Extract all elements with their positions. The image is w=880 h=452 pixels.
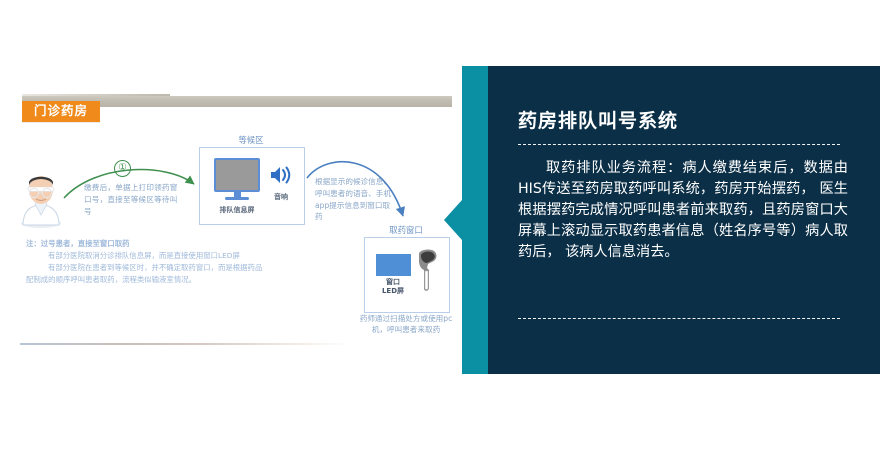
left-diagram-panel: 门诊药房	[0, 0, 462, 452]
panel-body-text: 取药排队业务流程：病人缴费结束后，数据由HIS传送至药房取药呼叫系统，药房开始摆…	[518, 158, 848, 263]
panel-title: 药房排队叫号系统	[518, 106, 838, 133]
divider-top	[518, 144, 840, 145]
teal-accent-band	[462, 66, 488, 374]
bottom-divider	[20, 343, 350, 345]
note-line-1: 注：过号患者，直接至窗口取药	[26, 238, 326, 250]
pickup-window-caption: 药师通过扫描处方或使用pc机，呼叫患者来取药	[358, 313, 454, 336]
led-screen-icon	[376, 254, 411, 276]
speaker-block: 音响	[266, 164, 296, 202]
speaker-label: 音响	[266, 192, 296, 202]
pickup-window-box: 窗口 LED屏	[364, 237, 450, 313]
patient-avatar	[18, 170, 64, 228]
speaker-icon	[269, 164, 293, 186]
divider-bottom	[518, 318, 840, 319]
note-line-2: 有部分医院取消分诊排队信息屏，而是直接使用窗口LED屏	[26, 250, 326, 262]
pickup-window-label: 取药窗口	[360, 224, 452, 236]
led-label-line1: 窗口	[386, 278, 400, 286]
teal-pointer-icon	[444, 200, 462, 240]
note-line-4: 配制成的顺序呼叫患者取药，流程类似输液室情况。	[26, 274, 326, 286]
led-screen-label: 窗口 LED屏	[371, 278, 415, 297]
waiting-area-box: 排队信息屏 音响	[199, 147, 305, 225]
monitor-base-icon	[225, 197, 249, 200]
monitor-screen-icon	[214, 158, 260, 192]
queue-monitor-label: 排队信息屏	[214, 205, 260, 215]
right-description-panel: 药房排队叫号系统 取药排队业务流程：病人缴费结束后，数据由HIS传送至药房取药呼…	[462, 66, 880, 374]
section-tag: 门诊药房	[22, 101, 100, 122]
flow-arrow-1-label: 缴费后，单据上打印领药窗口号，直接至等候区等待叫号	[84, 182, 184, 217]
waiting-area-label: 等候区	[196, 134, 306, 146]
note-block: 注：过号患者，直接至窗口取药 有部分医院取消分诊排队信息屏，而是直接使用窗口LE…	[26, 238, 326, 286]
step-number-badge: ①	[114, 160, 131, 177]
navy-content-box: 药房排队叫号系统 取药排队业务流程：病人缴费结束后，数据由HIS传送至药房取药呼…	[488, 66, 880, 374]
slide-canvas: 门诊药房	[0, 0, 880, 452]
note-line-3: 有部分医院在患者到等候区时，并不确定取药窗口，而是根据药品	[26, 262, 326, 274]
led-label-line2: LED屏	[382, 287, 404, 295]
flow-arrow-2-label: 根据显示的候诊信息、呼叫患者的语音、手机app提示信息到窗口取药	[315, 176, 391, 223]
barcode-scanner-icon	[415, 248, 439, 298]
queue-monitor: 排队信息屏	[214, 158, 260, 215]
